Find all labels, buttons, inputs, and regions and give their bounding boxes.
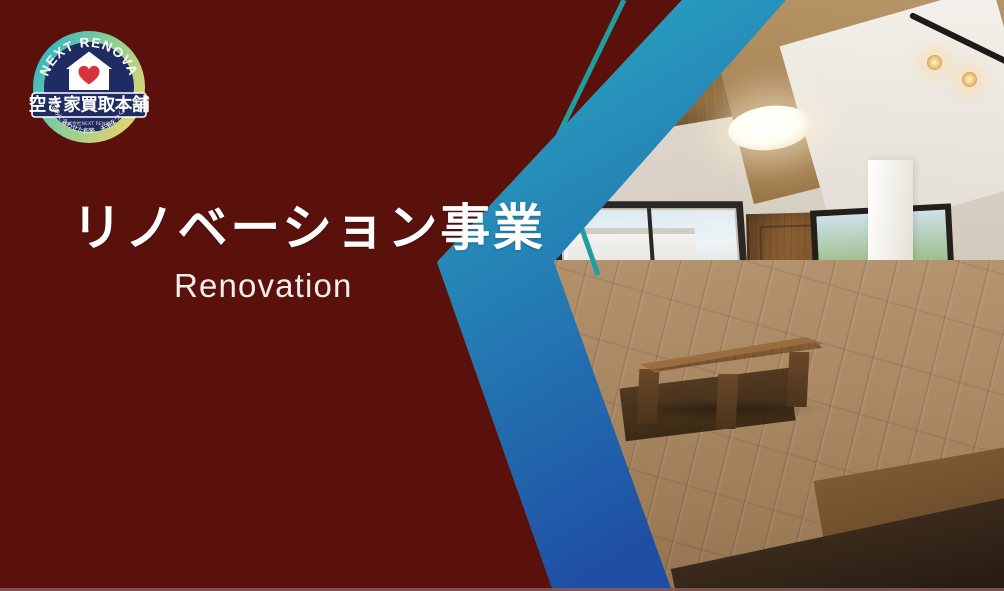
table-leg (636, 369, 659, 424)
next-renova-badge[interactable]: NEXT RENOVA 空き家買取本舗 株式会社NEXT RENOVA 街並みに… (22, 18, 156, 152)
table-leg (786, 352, 809, 407)
low-wooden-table (602, 331, 823, 426)
hero-banner: NEXT RENOVA 空き家買取本舗 株式会社NEXT RENOVA 街並みに… (0, 0, 1004, 591)
page-title: リノベーション事業 (72, 200, 546, 257)
spotlight-icon (927, 55, 942, 70)
table-leg (716, 374, 739, 429)
badge-banner: 空き家買取本舗 (29, 93, 150, 117)
spotlight-icon (962, 72, 977, 87)
badge-banner-text: 空き家買取本舗 (29, 95, 150, 116)
page-subtitle: Renovation (174, 266, 353, 306)
